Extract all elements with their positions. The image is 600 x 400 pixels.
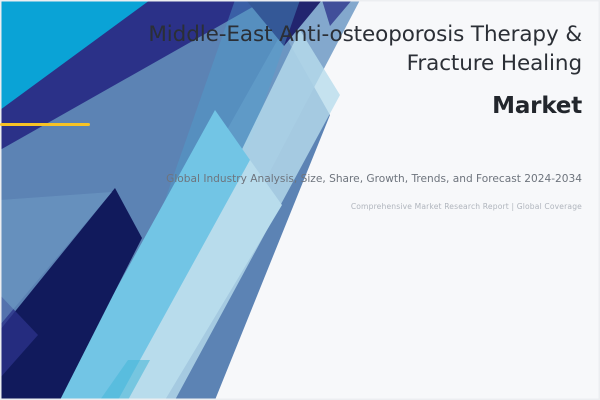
abstract-geometric-artwork: [0, 0, 600, 400]
report-cover: Middle-East Anti-osteoporosis Therapy & …: [0, 0, 600, 400]
